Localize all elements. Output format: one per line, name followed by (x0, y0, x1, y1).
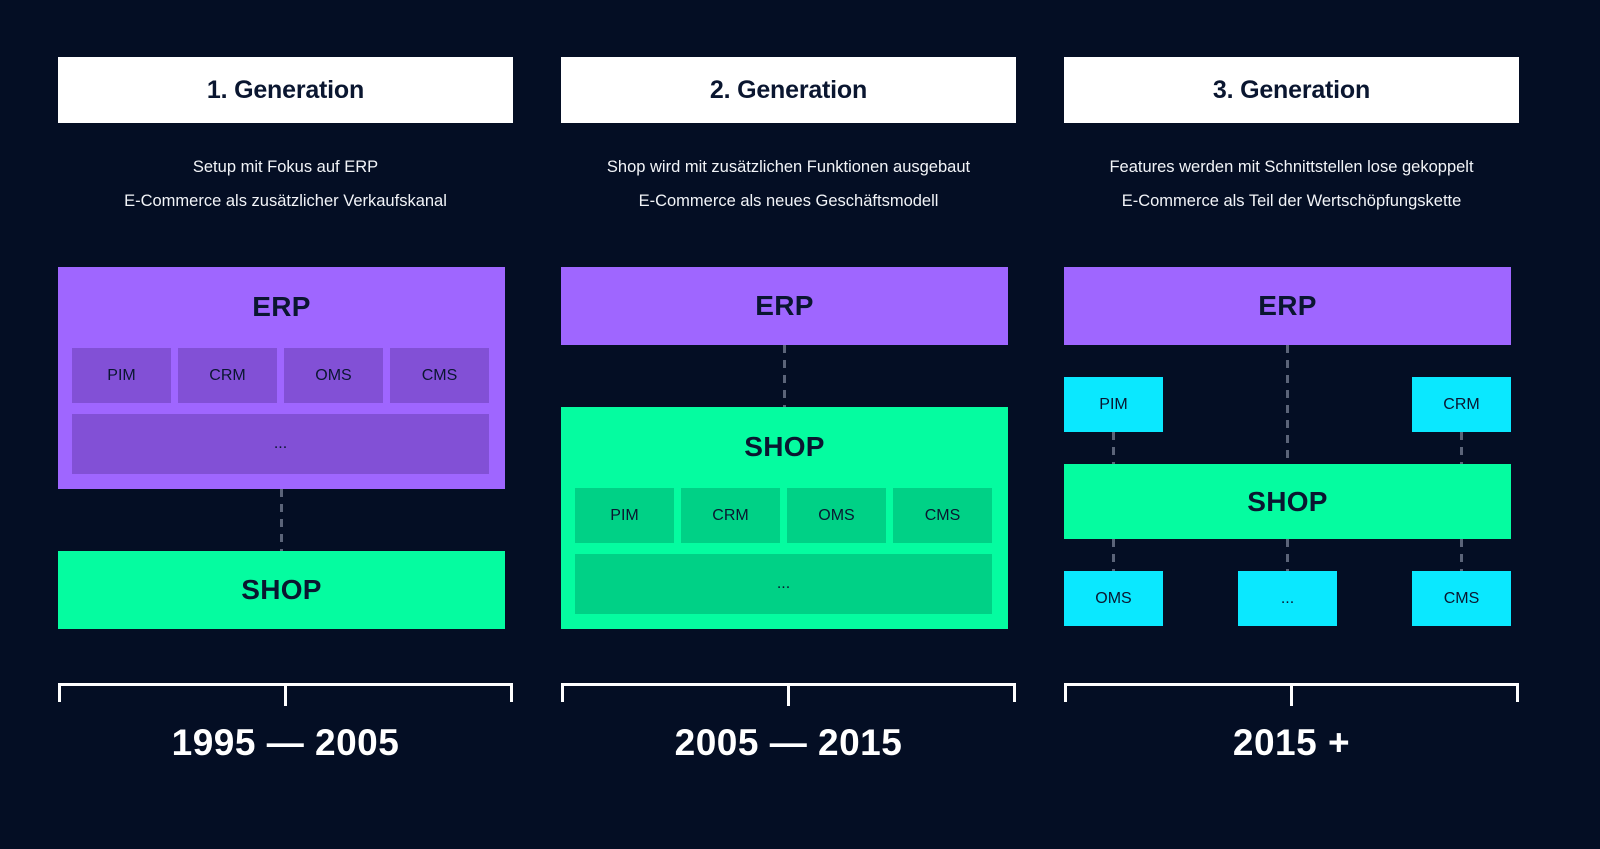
erp-block-3: ERP (1064, 267, 1511, 345)
shop-title-3: SHOP (1247, 486, 1328, 518)
year-label-1: 1995 — 2005 (58, 722, 513, 764)
shop-block-3: SHOP (1064, 464, 1511, 539)
module-label-crm-1: CRM (209, 367, 245, 385)
year-label-2: 2005 — 2015 (561, 722, 1016, 764)
shop-title-2: SHOP (561, 431, 1008, 463)
module-label-crm-2: CRM (712, 507, 748, 525)
bracket-center-tick-2 (787, 686, 790, 706)
subtitle-line-2: E-Commerce als neues Geschäftsmodell (547, 184, 1030, 218)
subtitle-line-1: Shop wird mit zusätzlichen Funktionen au… (547, 150, 1030, 184)
module-box-pim-2: PIM (575, 488, 674, 543)
connector-crm-shop-3 (1460, 432, 1463, 464)
bracket-cap-left-2 (561, 683, 564, 702)
module-box-pim-1: PIM (72, 348, 171, 403)
erp-title-3: ERP (1258, 290, 1316, 322)
module-label-pim-2: PIM (610, 507, 638, 525)
generation-header-label-2: 2. Generation (710, 76, 867, 105)
generation-header-1: 1. Generation (58, 57, 513, 123)
module-label-cms-2: CMS (925, 507, 961, 525)
feature-box-more-3: ... (1238, 571, 1337, 626)
feature-label-more-3: ... (1281, 590, 1294, 608)
generation-header-2: 2. Generation (561, 57, 1016, 123)
module-box-more-2: ... (575, 554, 992, 614)
module-label-more-2: ... (777, 575, 790, 593)
timeline-bracket-3 (1064, 683, 1519, 719)
subtitle-line-2: E-Commerce als zusätzlicher Verkaufskana… (44, 184, 527, 218)
module-box-crm-2: CRM (681, 488, 780, 543)
connector-pim-shop-3 (1112, 432, 1115, 464)
generation-subtitle-2: Shop wird mit zusätzlichen Funktionen au… (547, 150, 1030, 218)
year-label-3: 2015 + (1064, 722, 1519, 764)
subtitle-line-2: E-Commerce als Teil der Wertschöpfungske… (1050, 184, 1533, 218)
bracket-cap-right-2 (1013, 683, 1016, 702)
bracket-cap-right-1 (510, 683, 513, 702)
generation-column-1: 1. Generation Setup mit Fokus auf ERP E-… (58, 0, 513, 849)
generation-subtitle-1: Setup mit Fokus auf ERP E-Commerce als z… (44, 150, 527, 218)
bracket-cap-left-3 (1064, 683, 1067, 702)
connector-erp-shop-3 (1286, 345, 1289, 464)
shop-title-1: SHOP (241, 574, 322, 606)
shop-block-1: SHOP (58, 551, 505, 629)
connector-erp-shop-1 (280, 489, 283, 551)
module-box-cms-2: CMS (893, 488, 992, 543)
bracket-center-tick-1 (284, 686, 287, 706)
connector-erp-shop-2 (783, 345, 786, 407)
module-box-cms-1: CMS (390, 348, 489, 403)
module-label-cms-1: CMS (422, 367, 458, 385)
bracket-center-tick-3 (1290, 686, 1293, 706)
feature-box-oms-3: OMS (1064, 571, 1163, 626)
module-box-more-1: ... (72, 414, 489, 474)
module-label-pim-1: PIM (107, 367, 135, 385)
feature-box-pim-3: PIM (1064, 377, 1163, 432)
module-box-oms-1: OMS (284, 348, 383, 403)
feature-label-pim-3: PIM (1099, 396, 1127, 414)
generation-header-label-3: 3. Generation (1213, 76, 1370, 105)
timeline-bracket-1 (58, 683, 513, 719)
module-label-oms-2: OMS (818, 507, 854, 525)
generation-column-2: 2. Generation Shop wird mit zusätzlichen… (561, 0, 1016, 849)
connector-shop-more-3 (1286, 539, 1289, 571)
subtitle-line-1: Setup mit Fokus auf ERP (44, 150, 527, 184)
module-box-oms-2: OMS (787, 488, 886, 543)
subtitle-line-1: Features werden mit Schnittstellen lose … (1050, 150, 1533, 184)
module-box-crm-1: CRM (178, 348, 277, 403)
generation-header-3: 3. Generation (1064, 57, 1519, 123)
generation-header-label-1: 1. Generation (207, 76, 364, 105)
erp-title-1: ERP (58, 291, 505, 323)
module-label-oms-1: OMS (315, 367, 351, 385)
diagram-canvas: 1. Generation Setup mit Fokus auf ERP E-… (0, 0, 1600, 849)
feature-box-crm-3: CRM (1412, 377, 1511, 432)
bracket-cap-left-1 (58, 683, 61, 702)
timeline-bracket-2 (561, 683, 1016, 719)
connector-shop-oms-3 (1112, 539, 1115, 571)
generation-column-3: 3. Generation Features werden mit Schnit… (1064, 0, 1519, 849)
erp-title-2: ERP (755, 290, 813, 322)
generation-subtitle-3: Features werden mit Schnittstellen lose … (1050, 150, 1533, 218)
connector-shop-cms-3 (1460, 539, 1463, 571)
module-label-more-1: ... (274, 435, 287, 453)
feature-label-cms-3: CMS (1444, 590, 1480, 608)
bracket-cap-right-3 (1516, 683, 1519, 702)
feature-box-cms-3: CMS (1412, 571, 1511, 626)
erp-block-2: ERP (561, 267, 1008, 345)
feature-label-crm-3: CRM (1443, 396, 1479, 414)
feature-label-oms-3: OMS (1095, 590, 1131, 608)
